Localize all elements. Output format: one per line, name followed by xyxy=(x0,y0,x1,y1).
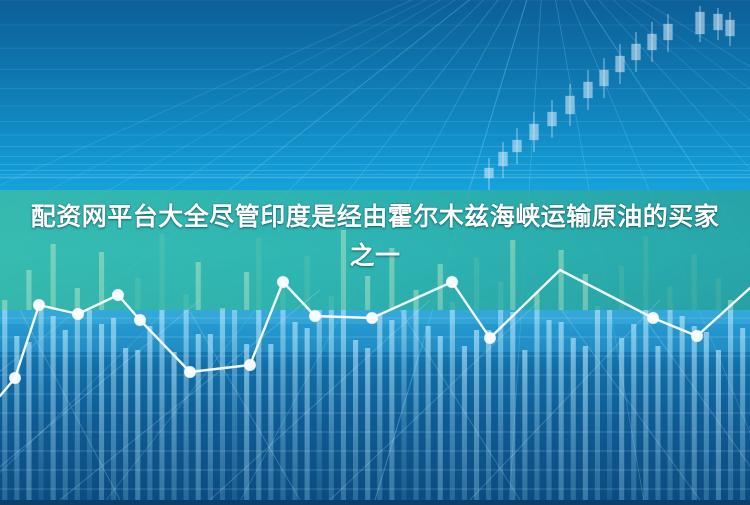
line-markers xyxy=(10,277,703,384)
perspective-grid xyxy=(0,0,750,500)
diagonal-streaks xyxy=(0,290,750,500)
bar-columns-upper xyxy=(2,230,745,500)
banner-background-art xyxy=(0,0,750,500)
headline-line-2: 之一 xyxy=(0,237,750,276)
candlestick-chart xyxy=(485,6,735,190)
bar-columns-lower xyxy=(2,284,745,500)
headline-line-1: 配资网平台大全尽管印度是经由霍尔木兹海峡运输原油的买家 xyxy=(0,198,750,237)
horizontal-gridlines xyxy=(0,318,750,489)
bar-columns-over-band xyxy=(2,230,733,500)
banner-headline: 配资网平台大全尽管印度是经由霍尔木兹海峡运输原油的买家 之一 xyxy=(0,198,750,276)
trend-line xyxy=(0,270,750,396)
teal-overlay-band xyxy=(0,190,750,310)
